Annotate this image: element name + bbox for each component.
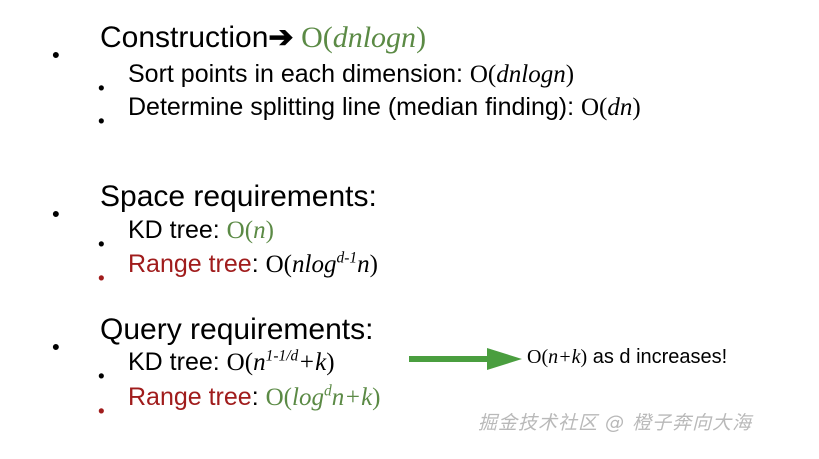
bullet-query-requirements: Query requirements: <box>52 313 373 347</box>
watermark: 掘金技术社区 @ 橙子奔向大海 <box>478 408 752 435</box>
o-prefix: O( <box>581 94 607 121</box>
o-suffix: ) <box>566 61 574 88</box>
construction-label: Construction <box>100 21 268 54</box>
o-prefix: O( <box>266 251 292 278</box>
separator: : <box>252 383 266 411</box>
o-tail: n <box>357 251 370 278</box>
o-prefix: O( <box>227 349 253 376</box>
o-base: nlog <box>292 251 336 278</box>
o-base: log <box>292 384 324 411</box>
separator: : <box>252 250 266 278</box>
construction-sort-line: Sort points in each dimension: O(dnlogn) <box>128 60 574 89</box>
construction-sort-complexity: O(dnlogn) <box>470 61 574 88</box>
construction-split-label: Determine splitting line (median finding… <box>128 93 581 121</box>
o-suffix: ) <box>372 384 380 411</box>
query-requirements-label: Query requirements: <box>100 313 373 347</box>
query-range-label: Range tree <box>128 383 252 411</box>
bullet-query-range-tree: Range tree: O(logdn+k) <box>98 383 381 412</box>
space-kd-label: KD tree <box>128 216 213 244</box>
query-range-line: Range tree: O(logdn+k) <box>128 383 381 412</box>
slide-canvas: Construction➔ O(dnlogn) Sort points in e… <box>0 0 819 459</box>
query-kd-label: KD tree <box>128 348 213 376</box>
separator: : <box>213 216 227 244</box>
space-kd-line: KD tree: O(n) <box>128 216 274 245</box>
o-suffix: ) <box>266 217 274 244</box>
o-suffix: ) <box>326 349 334 376</box>
o-body: dn <box>607 94 632 121</box>
o-superscript: d <box>324 383 332 400</box>
o-body: n+k <box>548 346 580 368</box>
o-body: n <box>253 217 266 244</box>
construction-line: Construction➔ O(dnlogn) <box>100 20 426 55</box>
bullet-space-kd-tree: KD tree: O(n) <box>98 216 274 245</box>
query-kd-complexity: O(n1-1/d+k) <box>227 349 335 376</box>
o-prefix: O( <box>470 61 496 88</box>
separator: : <box>213 348 227 376</box>
o-prefix: O( <box>301 21 333 54</box>
o-base: n <box>253 349 266 376</box>
bullet-query-kd-tree: KD tree: O(n1-1/d+k) <box>98 348 335 377</box>
annotation-tail: as d increases! <box>587 346 727 368</box>
o-suffix: ) <box>370 251 378 278</box>
o-superscript: 1-1/d <box>266 348 299 365</box>
o-tail: +k <box>298 349 326 376</box>
green-arrow-icon <box>409 344 524 374</box>
o-superscript: d-1 <box>336 250 357 267</box>
bullet-construction-sort: Sort points in each dimension: O(dnlogn) <box>98 60 574 89</box>
space-kd-complexity: O(n) <box>227 217 274 244</box>
bullet-space-requirements: Space requirements: <box>52 180 377 214</box>
space-requirements-label: Space requirements: <box>100 180 377 214</box>
bullet-construction: Construction➔ O(dnlogn) <box>52 20 426 55</box>
o-body: dnlogn <box>496 61 565 88</box>
query-range-complexity: O(logdn+k) <box>266 384 381 411</box>
space-range-label: Range tree <box>128 250 252 278</box>
bullet-construction-split: Determine splitting line (median finding… <box>98 93 641 122</box>
space-range-line: Range tree: O(nlogd-1n) <box>128 250 378 279</box>
construction-split-complexity: O(dn) <box>581 94 641 121</box>
right-arrow-icon: ➔ <box>268 21 293 54</box>
o-prefix: O( <box>527 346 548 368</box>
bullet-space-range-tree: Range tree: O(nlogd-1n) <box>98 250 378 279</box>
o-tail: n+k <box>332 384 372 411</box>
space-range-complexity: O(nlogd-1n) <box>266 251 378 278</box>
o-suffix: ) <box>416 21 426 54</box>
annotation-text: O(n+k) as d increases! <box>527 346 727 369</box>
construction-sort-label: Sort points in each dimension: <box>128 60 470 88</box>
o-prefix: O( <box>227 217 253 244</box>
construction-split-line: Determine splitting line (median finding… <box>128 93 641 122</box>
o-suffix: ) <box>632 94 640 121</box>
o-prefix: O( <box>266 384 292 411</box>
construction-complexity: O(dnlogn) <box>294 21 427 54</box>
annotation-complexity: O(n+k) <box>527 346 587 368</box>
o-body: dnlogn <box>333 21 416 54</box>
query-kd-line: KD tree: O(n1-1/d+k) <box>128 348 335 377</box>
